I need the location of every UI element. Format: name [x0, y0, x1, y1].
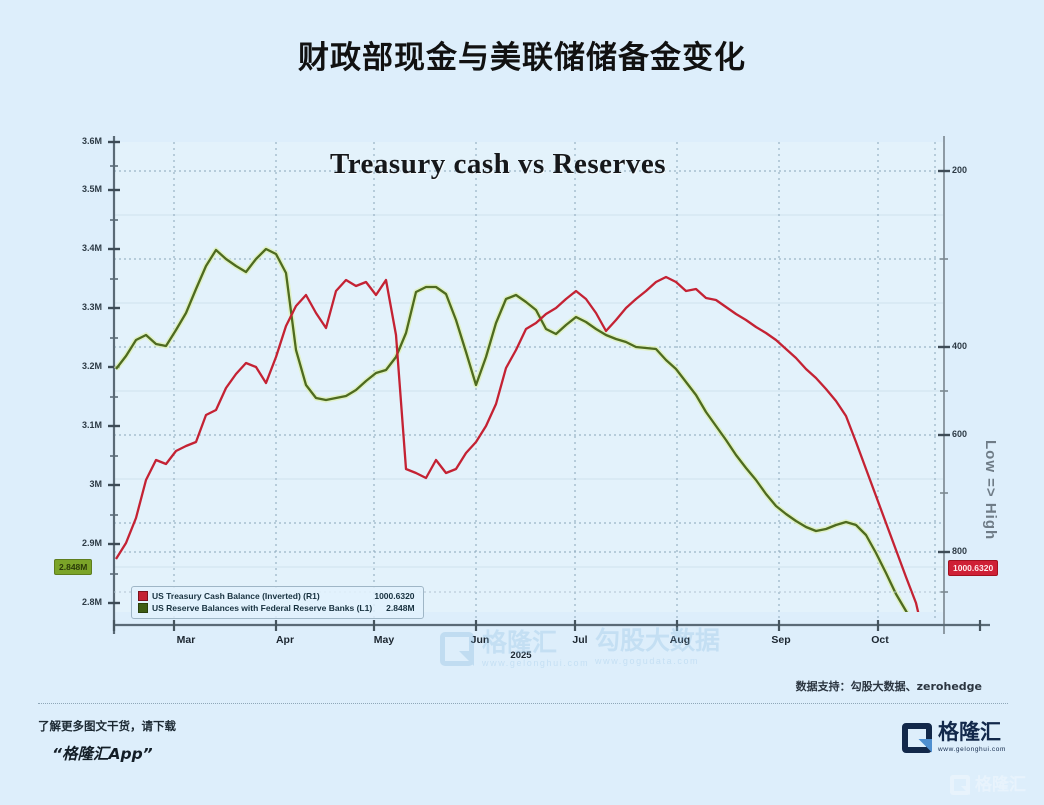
left-axis-tick-label: 2.8M	[56, 597, 102, 607]
left-axis-tick-label: 3.3M	[56, 302, 102, 312]
gelonghui-logo-icon	[950, 775, 970, 795]
legend-swatch-icon	[138, 603, 148, 613]
left-axis-tick-label: 3.6M	[56, 136, 102, 146]
footer-cta-line1: 了解更多图文干货，请下载	[38, 718, 176, 734]
plot-background	[114, 142, 944, 612]
legend-label: US Reserve Balances with Federal Reserve…	[152, 603, 372, 613]
chart-heading: Treasury cash vs Reserves	[330, 148, 666, 181]
legend-value: 1000.6320	[332, 591, 414, 601]
right-axis-tick-label: 600	[952, 429, 967, 439]
left-axis-tick-label: 3.5M	[56, 184, 102, 194]
chart-legend: US Treasury Cash Balance (Inverted) (R1)…	[131, 586, 424, 619]
left-axis-value-badge: 2.848M	[54, 559, 92, 575]
brand-name: 格隆汇	[938, 722, 1006, 743]
right-axis-tick-label: 400	[952, 341, 967, 351]
x-axis-tick-label-may: May	[374, 634, 394, 646]
x-axis-tick-label-oct: Oct	[871, 634, 889, 646]
right-axis-tick-label: 800	[952, 546, 967, 556]
legend-item-reserve-balances: US Reserve Balances with Federal Reserve…	[138, 602, 415, 614]
right-axis-tick-label: 200	[952, 165, 967, 175]
corner-watermark-text: 格隆汇	[975, 777, 1026, 794]
left-axis-tick-label: 3.1M	[56, 420, 102, 430]
x-axis-tick-label-aug: Aug	[670, 634, 690, 646]
left-axis-tick-label: 3.2M	[56, 361, 102, 371]
footer-brand: 格隆汇 www.gelonghui.com	[902, 722, 1006, 753]
footer-app-name: “格隆汇App”	[52, 742, 153, 764]
left-axis-tick-label: 2.9M	[56, 538, 102, 548]
x-axis-year-label: 2025	[510, 650, 531, 661]
source-note: 数据支持：勾股大数据、zerohedge	[796, 678, 982, 694]
x-axis-tick-label-jun: Jun	[471, 634, 490, 646]
gelonghui-logo-icon	[902, 723, 932, 753]
x-axis-tick-label-mar: Mar	[177, 634, 196, 646]
brand-url: www.gelonghui.com	[938, 746, 1006, 753]
legend-item-treasury-cash: US Treasury Cash Balance (Inverted) (R1)…	[138, 590, 415, 602]
legend-value: 2.848M	[372, 603, 414, 613]
left-axis-tick-label: 3M	[56, 479, 102, 489]
corner-watermark: 格隆汇	[950, 775, 1026, 795]
legend-label: US Treasury Cash Balance (Inverted) (R1)	[152, 591, 320, 601]
right-axis-value-badge: 1000.6320	[948, 560, 998, 576]
page-title: 财政部现金与美联储储备金变化	[0, 32, 1044, 77]
right-axis-title: Low => High	[982, 440, 999, 540]
left-axis-tick-label: 3.4M	[56, 243, 102, 253]
x-axis-tick-label-sep: Sep	[771, 634, 790, 646]
x-axis-tick-label-jul: Jul	[572, 634, 587, 646]
footer-divider	[38, 703, 1008, 704]
x-axis-tick-label-apr: Apr	[276, 634, 294, 646]
legend-swatch-icon	[138, 591, 148, 601]
